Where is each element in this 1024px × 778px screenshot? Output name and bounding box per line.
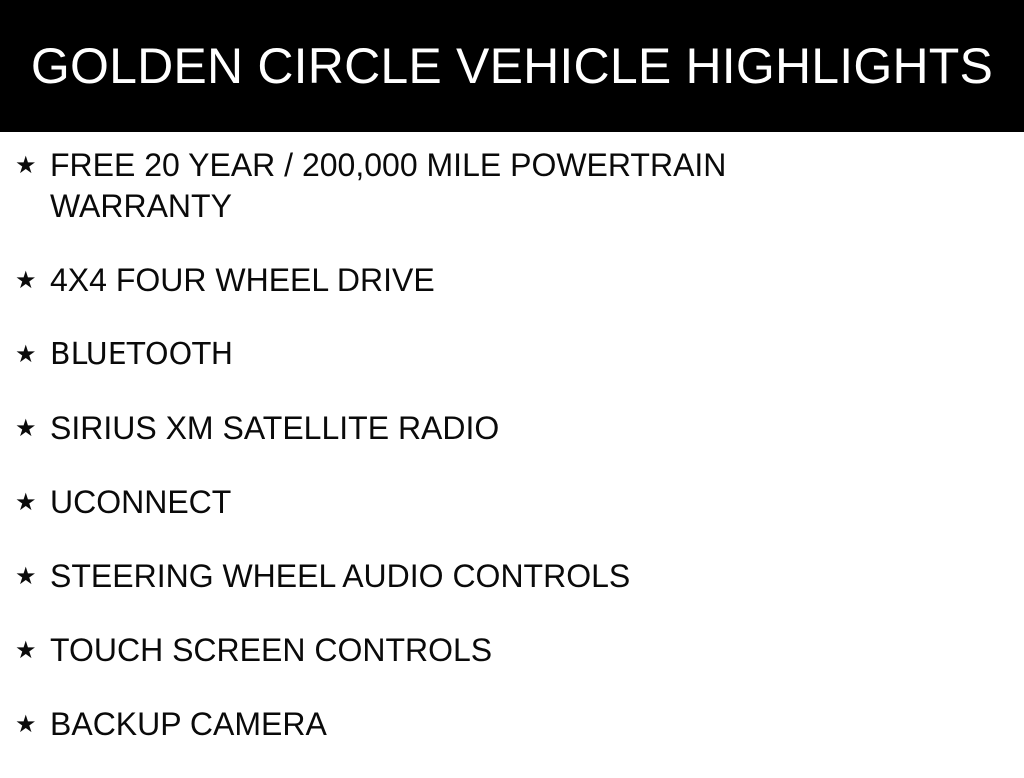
list-item: ★ BACKUP CAMERA xyxy=(0,704,1024,778)
list-item: ★ FREE 20 YEAR / 200,000 MILE POWERTRAIN… xyxy=(0,132,1024,260)
list-item: ★ STEERING WHEEL AUDIO CONTROLS xyxy=(0,556,1024,630)
star-bullet-icon: ★ xyxy=(15,704,41,745)
list-item-label: STEERING WHEEL AUDIO CONTROLS xyxy=(50,556,1004,597)
list-item: ★ BLUETOOTH xyxy=(0,334,1024,408)
star-bullet-icon: ★ xyxy=(15,334,41,375)
list-item: ★ 4X4 FOUR WHEEL DRIVE xyxy=(0,260,1024,334)
header-band: GOLDEN CIRCLE VEHICLE HIGHLIGHTS xyxy=(0,0,1024,132)
list-item: ★ UCONNECT xyxy=(0,482,1024,556)
list-item-label: TOUCH SCREEN CONTROLS xyxy=(50,630,1004,671)
star-bullet-icon: ★ xyxy=(15,408,41,449)
list-item-label: BLUETOOTH xyxy=(50,334,1004,375)
page-title: GOLDEN CIRCLE VEHICLE HIGHLIGHTS xyxy=(0,0,1024,132)
star-bullet-icon: ★ xyxy=(15,260,41,301)
list-item-label: SIRIUS XM SATELLITE RADIO xyxy=(50,408,1004,449)
list-item-label: BACKUP CAMERA xyxy=(50,704,1004,745)
list-item-label: UCONNECT xyxy=(50,482,1004,523)
highlights-list: ★ FREE 20 YEAR / 200,000 MILE POWERTRAIN… xyxy=(0,132,1024,778)
list-item: ★ SIRIUS XM SATELLITE RADIO xyxy=(0,408,1024,482)
list-item-label: FREE 20 YEAR / 200,000 MILE POWERTRAIN W… xyxy=(50,145,840,227)
list-item: ★ TOUCH SCREEN CONTROLS xyxy=(0,630,1024,704)
star-bullet-icon: ★ xyxy=(15,556,41,597)
star-bullet-icon: ★ xyxy=(15,630,41,671)
list-item-label: 4X4 FOUR WHEEL DRIVE xyxy=(50,260,1004,301)
star-bullet-icon: ★ xyxy=(15,145,41,186)
vehicle-highlights-slide: GOLDEN CIRCLE VEHICLE HIGHLIGHTS ★ FREE … xyxy=(0,0,1024,768)
star-bullet-icon: ★ xyxy=(15,482,41,523)
